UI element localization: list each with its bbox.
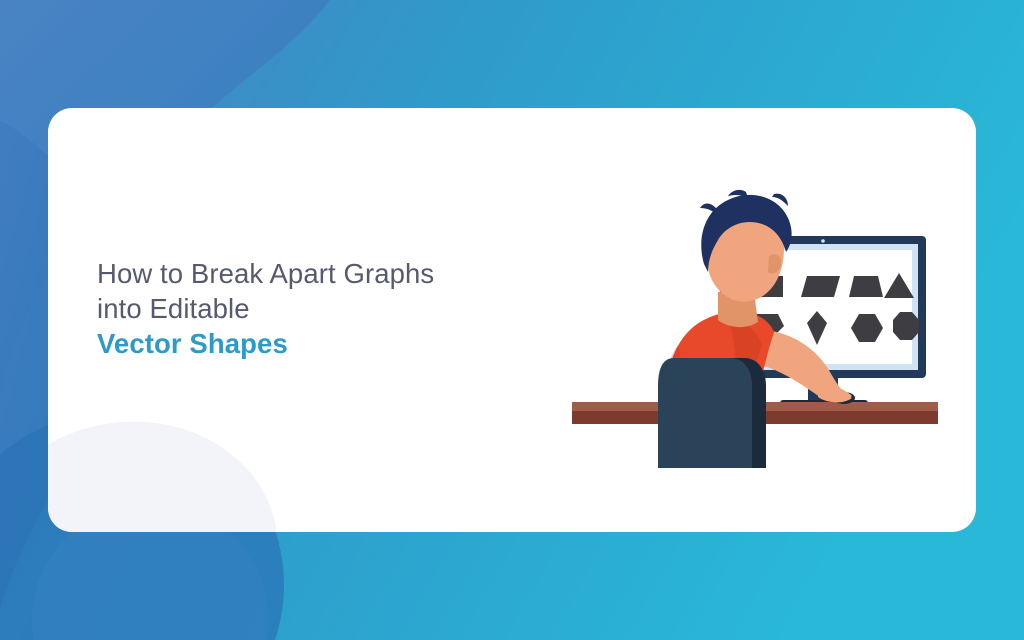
content-card: How to Break Apart Graphs into Editable … bbox=[48, 108, 976, 532]
card-accent-blob bbox=[48, 402, 295, 532]
chair-backrest bbox=[658, 358, 752, 468]
headline-accent-line: Vector Shapes bbox=[97, 326, 527, 362]
shape-trapezoid bbox=[849, 276, 883, 297]
headline-line-2: into Editable bbox=[97, 291, 527, 326]
shape-parallelogram bbox=[801, 276, 840, 297]
shape-octagon bbox=[893, 312, 919, 340]
headline-line-1: How to Break Apart Graphs bbox=[97, 256, 527, 291]
office-chair bbox=[658, 358, 766, 468]
monitor-camera-icon bbox=[821, 239, 825, 243]
headline-block: How to Break Apart Graphs into Editable … bbox=[97, 256, 527, 362]
banner-root: How to Break Apart Graphs into Editable … bbox=[0, 0, 1024, 640]
illustration-man-at-desk bbox=[568, 180, 968, 510]
